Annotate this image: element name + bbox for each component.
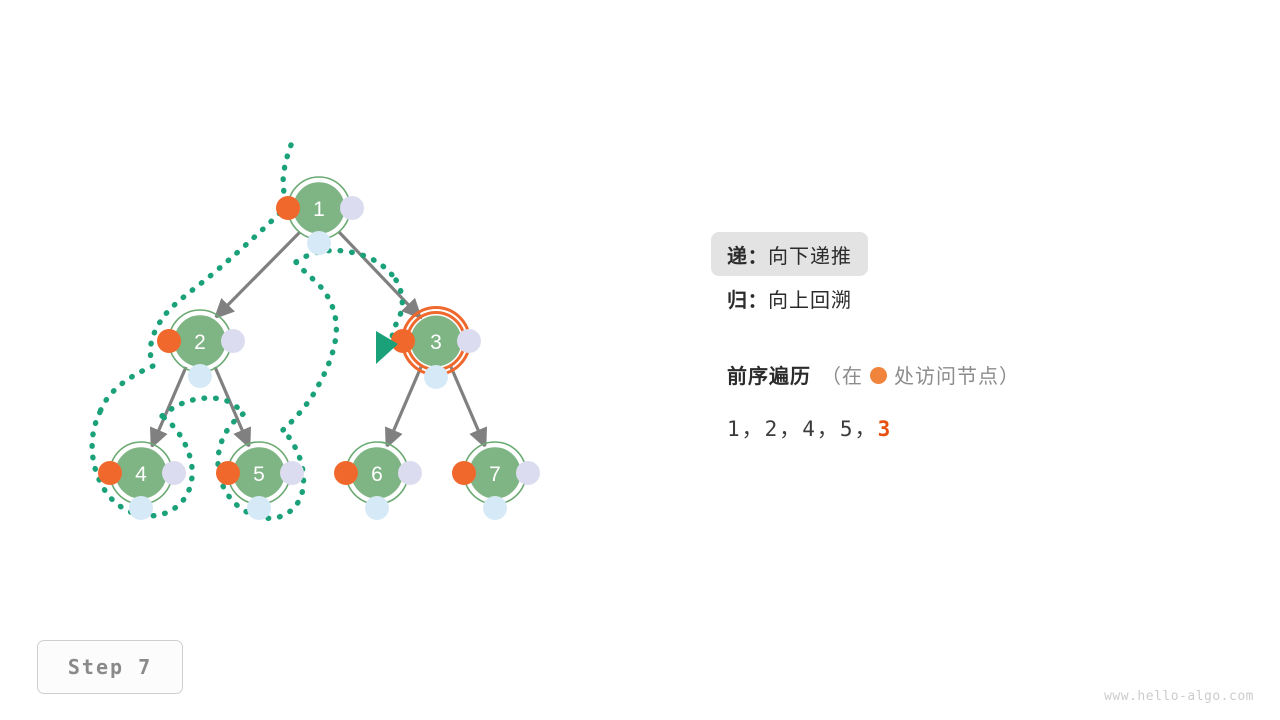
- step-badge-label: Step 7: [68, 655, 152, 679]
- legend-descend-rest: 向下递推: [768, 240, 852, 269]
- node-3-label: 3: [430, 331, 442, 354]
- edge-3-7: [451, 367, 485, 446]
- traversal-sequence: 1，2，4，5，3: [727, 413, 1247, 443]
- node-1-right-dot-icon: [340, 196, 364, 220]
- node-2-visit-dot-icon: [157, 329, 181, 353]
- traversal-title-row: 前序遍历 （在 处访问节点）: [727, 360, 1247, 389]
- legend-item-descend: 递： 向下递推: [711, 232, 868, 276]
- edge-1-3: [339, 232, 420, 317]
- traversal-panel: 前序遍历 （在 处访问节点） 1，2，4，5，3: [727, 360, 1247, 443]
- node-1-label: 1: [313, 198, 325, 221]
- tree-node-7[interactable]: 7: [452, 442, 540, 520]
- step-badge: Step 7: [37, 640, 183, 694]
- node-2-right-dot-icon: [221, 329, 245, 353]
- node-1-bottom-dot-icon: [307, 231, 331, 255]
- node-5-visit-dot-icon: [216, 461, 240, 485]
- path-5-up-right: [283, 262, 336, 430]
- traversal-note-open: （在: [821, 360, 863, 389]
- node-3-visit-dot-icon: [391, 329, 415, 353]
- tree-node-3[interactable]: 3: [391, 308, 481, 390]
- legend-descend-lead: 递：: [727, 240, 768, 269]
- node-6-visit-dot-icon: [334, 461, 358, 485]
- node-4-right-dot-icon: [162, 461, 186, 485]
- watermark: www.hello-algo.com: [1104, 689, 1254, 704]
- node-6-label: 6: [371, 463, 383, 486]
- tree-node-5[interactable]: 5: [216, 442, 304, 520]
- node-2-bottom-dot-icon: [188, 364, 212, 388]
- node-1-visit-dot-icon: [276, 196, 300, 220]
- node-2-label: 2: [194, 331, 206, 354]
- traversal-title: 前序遍历: [727, 360, 811, 389]
- node-4-label: 4: [135, 463, 147, 486]
- node-5-label: 5: [253, 463, 265, 486]
- edge-2-5: [215, 367, 249, 446]
- node-4-bottom-dot-icon: [129, 496, 153, 520]
- edge-3-6: [387, 367, 421, 446]
- node-4-visit-dot-icon: [98, 461, 122, 485]
- legend-ascend-lead: 归：: [727, 284, 768, 313]
- traversal-sequence-current: 3: [878, 417, 893, 441]
- tree-node-6[interactable]: 6: [334, 442, 422, 520]
- node-6-bottom-dot-icon: [365, 496, 389, 520]
- node-3-bottom-dot-icon: [424, 365, 448, 389]
- orange-dot-icon: [870, 367, 887, 384]
- node-3-right-dot-icon: [457, 329, 481, 353]
- node-7-label: 7: [489, 463, 501, 486]
- traversal-sequence-prefix: 1，2，4，5，: [727, 417, 878, 441]
- node-7-right-dot-icon: [516, 461, 540, 485]
- path-2-left-down: [100, 322, 160, 412]
- traversal-note-close: 处访问节点）: [894, 360, 1020, 389]
- tree-node-2[interactable]: 2: [157, 310, 245, 388]
- node-7-visit-dot-icon: [452, 461, 476, 485]
- edge-1-2: [216, 232, 300, 317]
- legend-ascend-rest: 向上回溯: [768, 284, 852, 313]
- node-7-bottom-dot-icon: [483, 496, 507, 520]
- node-5-bottom-dot-icon: [247, 496, 271, 520]
- node-6-right-dot-icon: [398, 461, 422, 485]
- node-5-right-dot-icon: [280, 461, 304, 485]
- legend-panel: 递： 向下递推 归： 向上回溯: [727, 232, 1227, 320]
- legend-item-ascend: 归： 向上回溯: [711, 276, 868, 320]
